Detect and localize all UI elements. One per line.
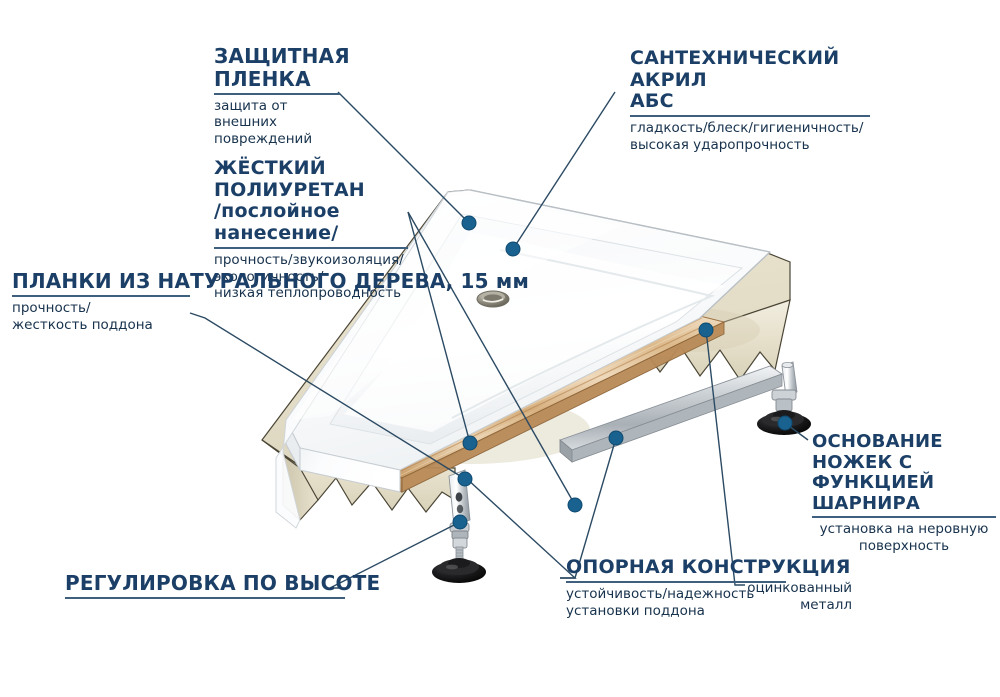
callout-galvanized-metal-subtitle: оцинкованный металл (740, 580, 852, 614)
callout-protective-film[interactable]: ЗАЩИТНАЯ ПЛЕНКА защита от внешних повреж… (214, 45, 340, 148)
callout-sanitary-acrylic[interactable]: САНТЕХНИЧЕСКИЙ АКРИЛ АБС гладкость/блеск… (630, 48, 870, 154)
callout-natural-wood-slats-rule (12, 295, 190, 297)
callout-leg-base-hinge-title: ОСНОВАНИЕ НОЖЕК С ФУНКЦИЕЙ ШАРНИРА (812, 432, 996, 514)
callout-protective-film-title: ЗАЩИТНАЯ ПЛЕНКА (214, 45, 340, 91)
callout-sanitary-acrylic-rule (630, 115, 870, 117)
callout-rigid-polyurethane-rule (214, 247, 408, 249)
callout-natural-wood-slats[interactable]: ПЛАНКИ ИЗ НАТУРАЛЬНОГО ДЕРЕВА, 15 мм про… (12, 270, 190, 334)
callout-leg-base-hinge-subtitle: установка на неровную поверхность (812, 521, 996, 555)
callout-rigid-polyurethane-title: ЖЁСТКИЙ ПОЛИУРЕТАН /послойное нанесение/ (214, 158, 408, 245)
drain-hole (477, 291, 509, 307)
callout-protective-film-subtitle: защита от внешних повреждений (214, 98, 340, 149)
callout-leg-base-hinge-rule (812, 516, 996, 518)
callout-protective-film-rule (214, 93, 340, 95)
callout-sanitary-acrylic-subtitle: гладкость/блеск/гигиеничность/ высокая у… (630, 120, 870, 154)
callout-support-frame-title: ОПОРНАЯ КОНСТРУКЦИЯ (566, 557, 786, 579)
callout-galvanized-metal[interactable]: оцинкованный металл (740, 580, 852, 614)
diagram-canvas: ЗАЩИТНАЯ ПЛЕНКА защита от внешних повреж… (0, 0, 1000, 697)
callout-leg-base-hinge[interactable]: ОСНОВАНИЕ НОЖЕК С ФУНКЦИЕЙ ШАРНИРА устан… (812, 432, 996, 555)
callout-height-adjustment[interactable]: РЕГУЛИРОВКА ПО ВЫСОТЕ (65, 572, 345, 599)
callout-natural-wood-slats-title: ПЛАНКИ ИЗ НАТУРАЛЬНОГО ДЕРЕВА, 15 мм (12, 270, 190, 293)
callout-natural-wood-slats-subtitle: прочность/ жесткость поддона (12, 300, 190, 334)
callout-height-adjustment-rule (65, 597, 345, 599)
callout-sanitary-acrylic-title: САНТЕХНИЧЕСКИЙ АКРИЛ АБС (630, 48, 870, 113)
callout-height-adjustment-title: РЕГУЛИРОВКА ПО ВЫСОТЕ (65, 572, 345, 595)
